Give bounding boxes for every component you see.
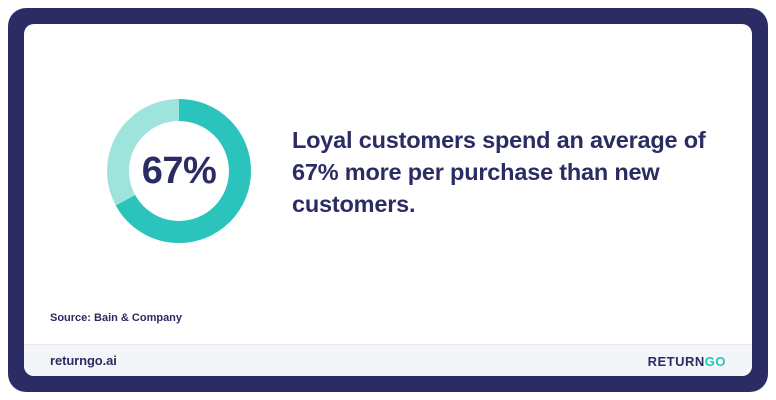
poster-footer: returngo.ai RETURNGO: [24, 344, 752, 376]
statement-text: Loyal customers spend an average of 67% …: [292, 124, 712, 220]
stat-content: 67% Loyal customers spend an average of …: [24, 24, 752, 344]
footer-website: returngo.ai: [50, 353, 117, 368]
logo-text-return: RETURN: [648, 354, 705, 369]
source-credit: Source: Bain & Company: [50, 312, 182, 324]
donut-chart: 67%: [102, 94, 256, 248]
poster-canvas: 67% Loyal customers spend an average of …: [24, 24, 752, 376]
donut-center-label: 67%: [102, 94, 256, 248]
logo-text-go: GO: [705, 354, 726, 369]
poster-frame: 67% Loyal customers spend an average of …: [8, 8, 768, 392]
footer-logo: RETURNGO: [648, 354, 726, 369]
